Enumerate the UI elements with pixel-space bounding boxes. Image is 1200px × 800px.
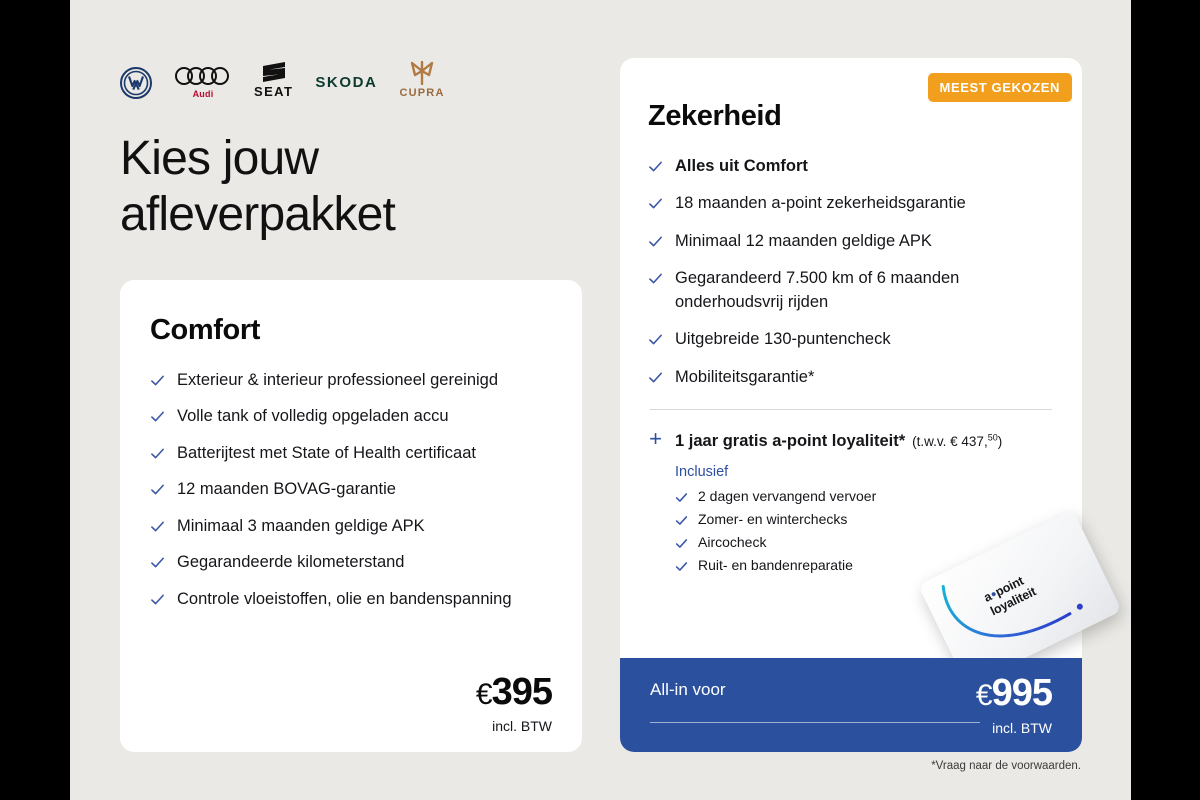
section-divider: [650, 409, 1052, 410]
zekerheid-price-note: incl. BTW: [976, 720, 1052, 736]
check-icon: [648, 159, 663, 174]
currency-symbol: €: [476, 678, 492, 711]
list-item: 18 maanden a-point zekerheidsgarantie: [648, 192, 1054, 215]
feature-text: 12 maanden BOVAG-garantie: [177, 478, 396, 501]
comfort-price: €395: [476, 673, 552, 711]
list-item: 2 dagen vervangend vervoer: [675, 488, 1054, 504]
check-icon: [648, 234, 663, 249]
bonus-value-suffix: ): [998, 434, 1003, 449]
zekerheid-price: €995: [976, 674, 1052, 712]
bonus-title: 1 jaar gratis a-point loyaliteit*: [675, 432, 905, 450]
plus-icon: +: [648, 428, 663, 450]
package-card-zekerheid[interactable]: MEEST GEKOZEN Zekerheid Alles uit Comfor…: [620, 58, 1082, 752]
vw-logo-icon: [120, 67, 152, 99]
screenshot-stage: Audi SEAT SKODA CUPRA Kies jouw afleverp…: [0, 0, 1200, 800]
comfort-price-note: incl. BTW: [476, 718, 552, 734]
status-badge: MEEST GEKOZEN: [928, 73, 1072, 102]
list-item: Alles uit Comfort: [648, 155, 1054, 178]
list-item: Minimaal 12 maanden geldige APK: [648, 230, 1054, 253]
inclusief-label: Inclusief: [675, 464, 1054, 480]
bonus-value-prefix: (t.w.v. € 437,: [912, 434, 988, 449]
check-icon: [150, 409, 165, 424]
feature-text: Mobiliteitsgarantie*: [675, 366, 814, 389]
list-item: Uitgebreide 130-puntencheck: [648, 328, 1054, 351]
feature-text: Gegarandeerd 7.500 km of 6 maanden onder…: [675, 267, 1054, 314]
brand-cupra: CUPRA: [399, 61, 444, 99]
sub-feature-text: Aircocheck: [698, 534, 766, 550]
zekerheid-title: Zekerheid: [648, 100, 1054, 133]
allin-price-footer: All-in voor €995 incl. BTW: [620, 658, 1082, 752]
check-icon: [648, 370, 663, 385]
list-item: Gegarandeerd 7.500 km of 6 maanden onder…: [648, 267, 1054, 314]
check-icon: [675, 491, 688, 504]
list-item: Controle vloeistoffen, olie en bandenspa…: [150, 588, 552, 611]
feature-text: Gegarandeerde kilometerstand: [177, 551, 404, 574]
feature-text: Volle tank of volledig opgeladen accu: [177, 405, 449, 428]
comfort-feature-list: Exterieur & interieur professioneel gere…: [150, 369, 552, 611]
audi-wordmark: Audi: [193, 89, 214, 99]
check-icon: [675, 514, 688, 527]
sub-feature-text: Zomer- en winterchecks: [698, 511, 847, 527]
feature-text: Alles uit Comfort: [675, 155, 808, 178]
bonus-value-note: (t.w.v. € 437,50): [912, 434, 1002, 449]
check-icon: [150, 592, 165, 607]
bonus-value-cents: 50: [988, 432, 998, 442]
check-icon: [150, 482, 165, 497]
sub-feature-text: 2 dagen vervangend vervoer: [698, 488, 876, 504]
check-icon: [675, 560, 688, 573]
check-icon: [648, 271, 663, 286]
brand-volkswagen: [120, 67, 152, 99]
bonus-text-wrap: 1 jaar gratis a-point loyaliteit*(t.w.v.…: [675, 432, 1002, 451]
check-icon: [150, 519, 165, 534]
list-item: 12 maanden BOVAG-garantie: [150, 478, 552, 501]
skoda-wordmark: SKODA: [315, 74, 377, 91]
page-canvas: Audi SEAT SKODA CUPRA Kies jouw afleverp…: [70, 0, 1131, 800]
allin-rule: [650, 722, 980, 723]
comfort-title: Comfort: [150, 314, 552, 347]
feature-text: Exterieur & interieur professioneel gere…: [177, 369, 498, 392]
feature-text: Minimaal 12 maanden geldige APK: [675, 230, 932, 253]
footnote: *Vraag naar de voorwaarden.: [931, 760, 1081, 772]
list-item: Exterieur & interieur professioneel gere…: [150, 369, 552, 392]
brand-logo-bar: Audi SEAT SKODA CUPRA: [120, 55, 445, 99]
feature-text: 18 maanden a-point zekerheidsgarantie: [675, 192, 966, 215]
loyalty-bonus-row: + 1 jaar gratis a-point loyaliteit*(t.w.…: [648, 428, 1054, 451]
price-amount: 995: [992, 672, 1052, 714]
brand-seat: SEAT: [254, 61, 293, 99]
package-card-comfort[interactable]: Comfort Exterieur & interieur profession…: [120, 280, 582, 752]
currency-symbol: €: [976, 679, 992, 712]
check-icon: [150, 373, 165, 388]
check-icon: [648, 332, 663, 347]
comfort-price-block: €395 incl. BTW: [476, 673, 552, 734]
check-icon: [150, 446, 165, 461]
zekerheid-content: Zekerheid Alles uit Comfort 18 maanden a…: [620, 58, 1082, 573]
list-item: Minimaal 3 maanden geldige APK: [150, 515, 552, 538]
check-icon: [675, 537, 688, 550]
feature-text: Minimaal 3 maanden geldige APK: [177, 515, 425, 538]
list-item: Gegarandeerde kilometerstand: [150, 551, 552, 574]
list-item: Volle tank of volledig opgeladen accu: [150, 405, 552, 428]
sub-feature-text: Ruit- en bandenreparatie: [698, 557, 853, 573]
feature-text: Batterijtest met State of Health certifi…: [177, 442, 476, 465]
list-item: Mobiliteitsgarantie*: [648, 366, 1054, 389]
list-item: Batterijtest met State of Health certifi…: [150, 442, 552, 465]
check-icon: [648, 196, 663, 211]
brand-skoda: SKODA: [315, 74, 377, 99]
feature-text: Controle vloeistoffen, olie en bandenspa…: [177, 588, 512, 611]
zekerheid-price-block: €995 incl. BTW: [976, 674, 1052, 736]
cupra-logo-icon: [407, 61, 437, 85]
cupra-wordmark: CUPRA: [399, 87, 444, 99]
check-icon: [150, 555, 165, 570]
audi-rings-icon: [174, 65, 232, 87]
price-amount: 395: [492, 671, 552, 713]
brand-audi: Audi: [174, 65, 232, 99]
page-title: Kies jouw afleverpakket: [120, 131, 540, 243]
list-item: Zomer- en winterchecks: [675, 511, 1054, 527]
zekerheid-feature-list: Alles uit Comfort 18 maanden a-point zek…: [648, 155, 1054, 389]
seat-wordmark: SEAT: [254, 84, 293, 99]
seat-s-icon: [261, 61, 287, 83]
feature-text: Uitgebreide 130-puntencheck: [675, 328, 891, 351]
